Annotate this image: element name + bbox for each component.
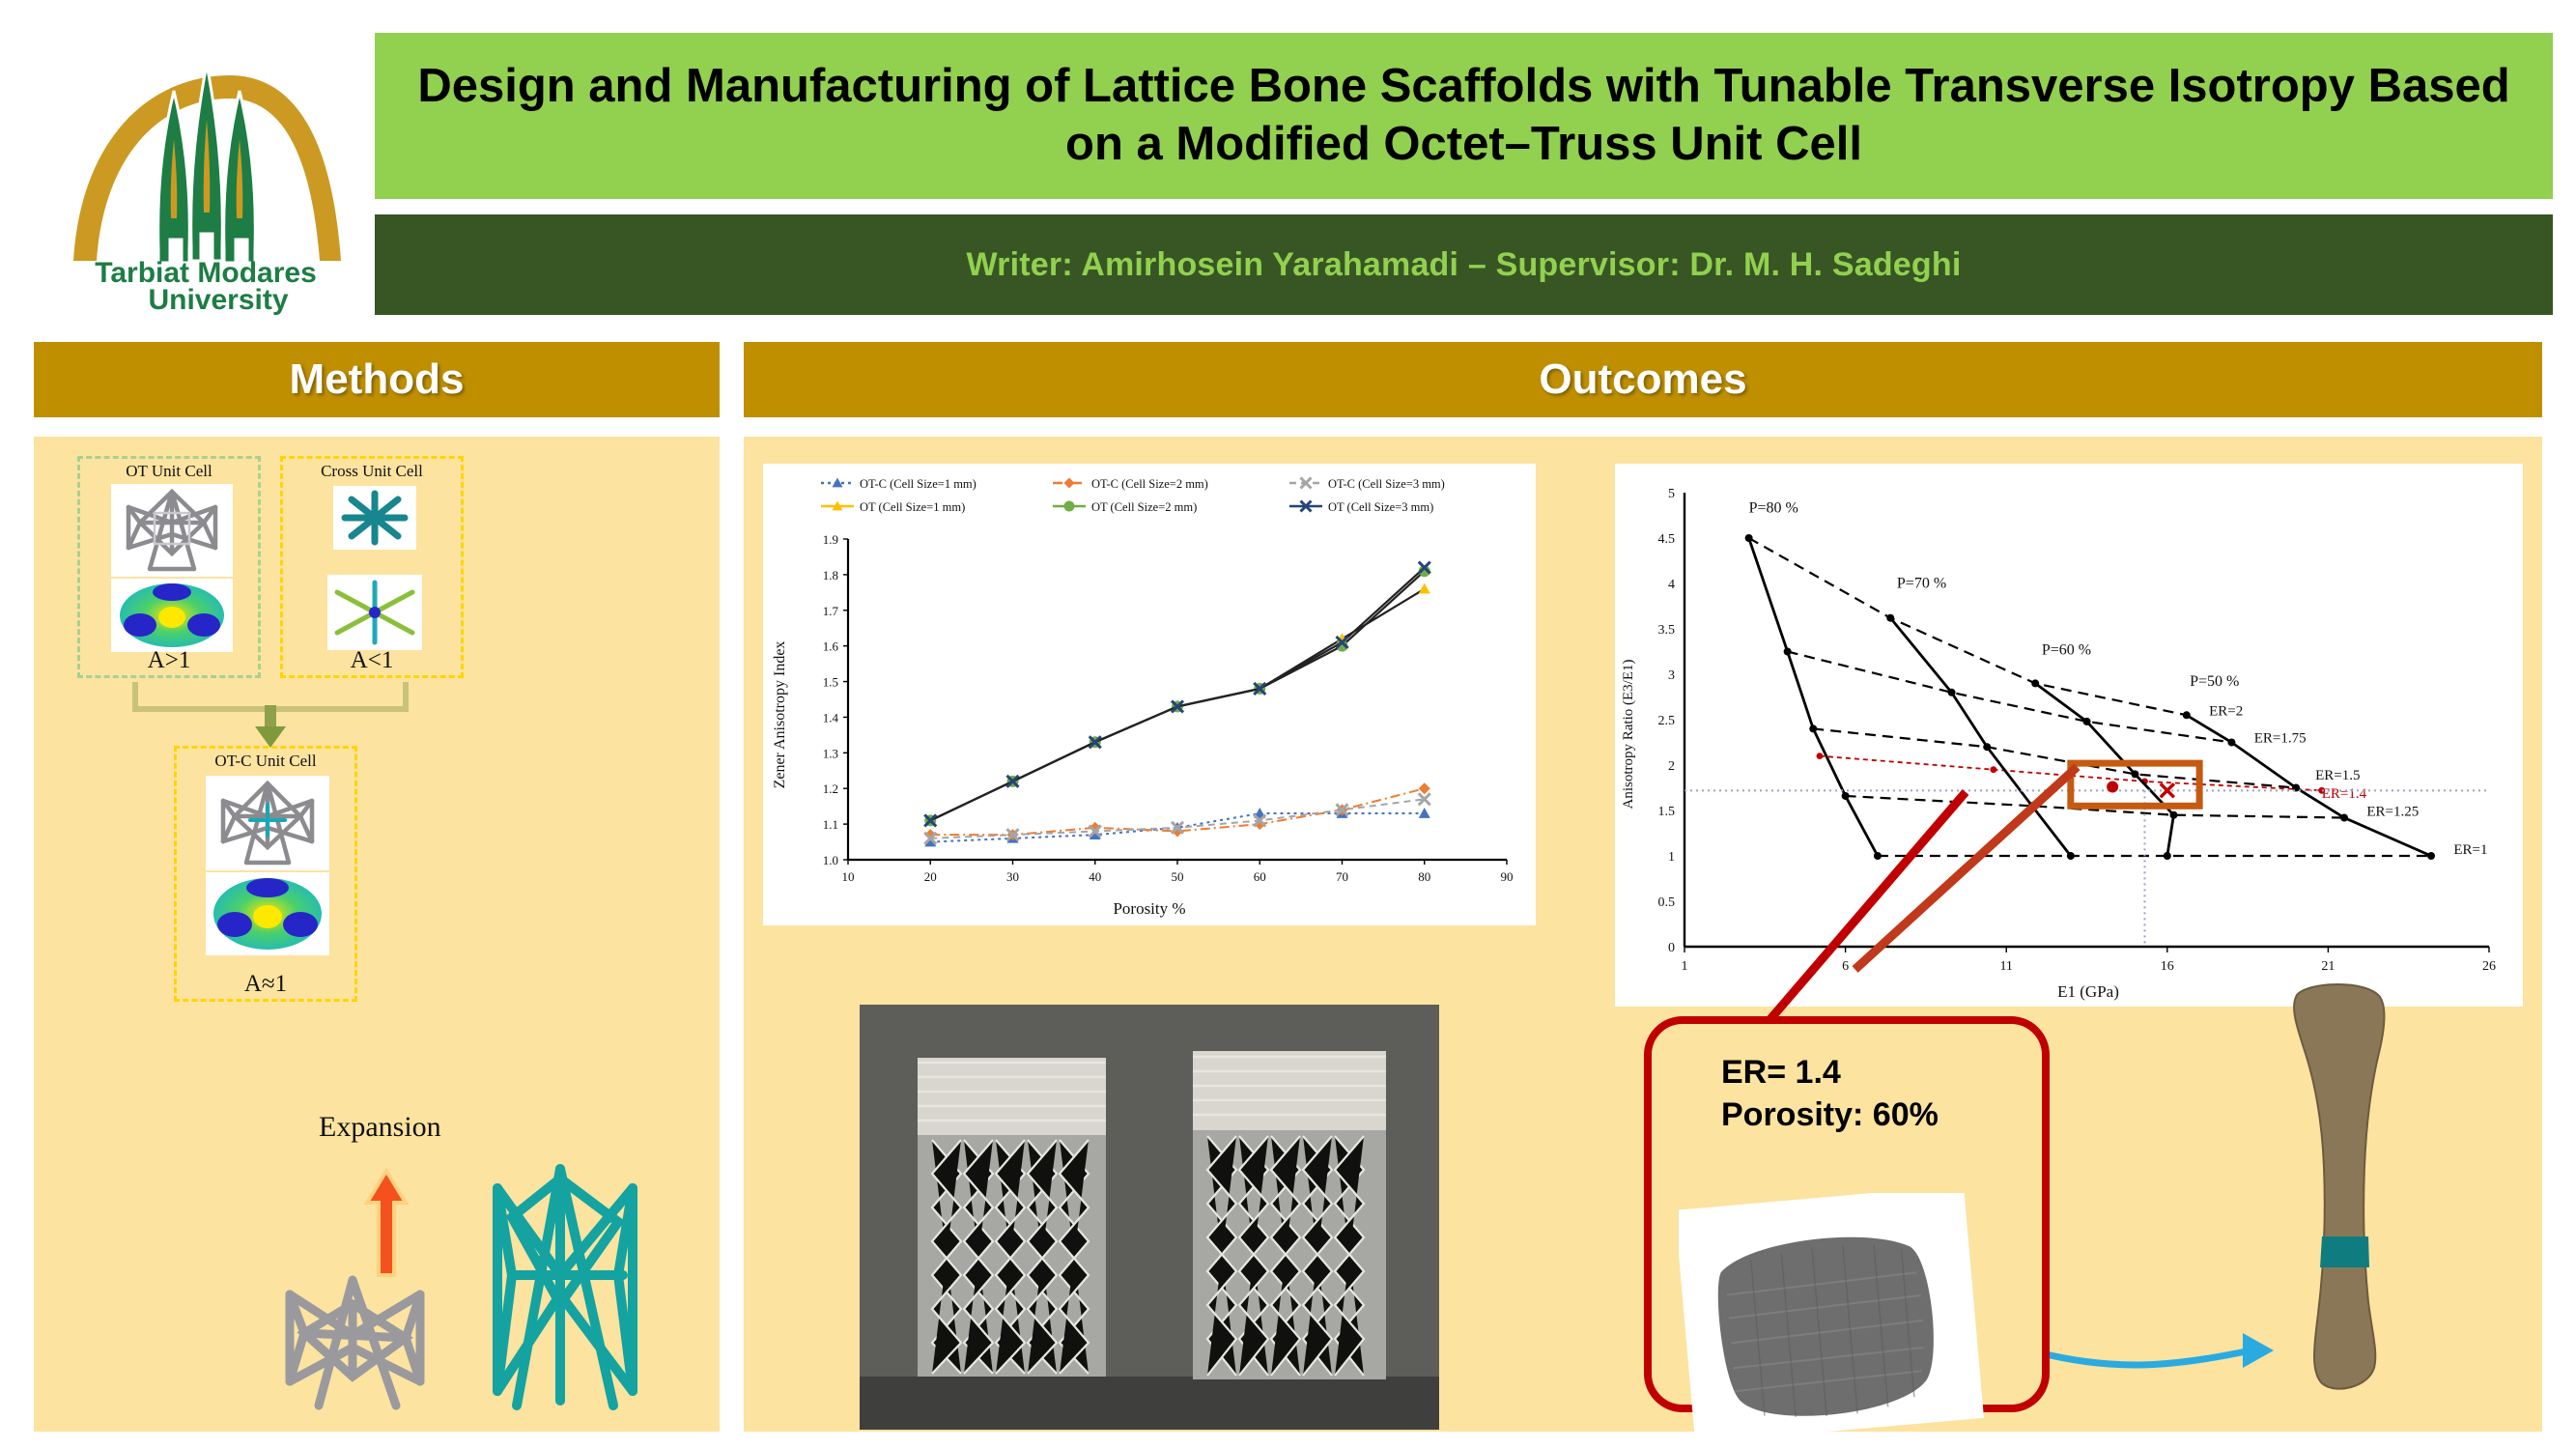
section-header-outcomes: Outcomes — [744, 342, 2542, 417]
svg-text:1.1: 1.1 — [823, 817, 838, 832]
specimen-right — [1193, 1051, 1386, 1379]
teal-expanded-cell — [497, 1169, 633, 1406]
tibia-bone-illustration — [2250, 974, 2444, 1428]
svg-text:1.7: 1.7 — [823, 604, 839, 618]
er-label-2: ER=1.5 — [2315, 768, 2360, 783]
cross-unit-cell-group: Cross Unit Cell — [280, 456, 464, 678]
chart2-axes: 00.511.522.533.544.551611162126 — [1658, 487, 2497, 974]
svg-text:1.5: 1.5 — [823, 675, 838, 690]
scaffold-cylinder-image — [1679, 1193, 1988, 1435]
chart1-legend-label-2: OT-C (Cell Size=3 mm) — [1328, 477, 1445, 491]
specimen-left — [918, 1058, 1106, 1377]
chart2-svg: 00.511.522.533.544.551611162126 P=80 %P=… — [1615, 464, 2523, 1007]
svg-text:3.5: 3.5 — [1658, 623, 1676, 638]
svg-text:70: 70 — [1336, 869, 1348, 884]
svg-text:1.3: 1.3 — [823, 746, 838, 760]
otc-anisotropy-surface — [206, 872, 329, 955]
chart1-legend-label-3: OT (Cell Size=1 mm) — [860, 500, 965, 514]
page-title: Design and Manufacturing of Lattice Bone… — [413, 58, 2514, 174]
otc-unit-cell-group: OT-C Unit Cell — [174, 746, 357, 1002]
svg-text:1.5: 1.5 — [1658, 805, 1676, 819]
ot-unit-cell-render — [111, 484, 233, 577]
svg-text:1.4: 1.4 — [823, 710, 839, 724]
author-line: Writer: Amirhosein Yarahamadi – Supervis… — [967, 246, 1962, 284]
callout-porosity: Porosity: 60% — [1721, 1094, 1939, 1138]
otc-lattice-icon — [206, 776, 329, 870]
chart2-annotations: P=80 %P=70 %P=60 %P=50 %ER=2ER=1.75ER=1.… — [1684, 500, 2489, 970]
chart2-ylabel: Anisotropy Ratio (E3/E1) — [1621, 660, 1636, 810]
chart1-svg: OT-C (Cell Size=1 mm)OT-C (Cell Size=2 m… — [763, 464, 1536, 925]
otc-anisotropy-icon — [206, 872, 329, 955]
svg-text:1: 1 — [1668, 850, 1675, 865]
svg-text:80: 80 — [1418, 869, 1430, 884]
lattice-specimens-graphic — [860, 1005, 1439, 1430]
poster-root: Tarbiat Modares University Design and Ma… — [0, 0, 2576, 1449]
otc-anisotropy-value: A≈1 — [177, 971, 354, 998]
svg-text:26: 26 — [2482, 959, 2496, 974]
logo-graphic: Tarbiat Modares University — [46, 19, 365, 319]
svg-text:20: 20 — [924, 869, 937, 884]
svg-text:1.0: 1.0 — [823, 853, 838, 867]
svg-text:4.5: 4.5 — [1658, 532, 1676, 547]
merge-connector — [77, 676, 464, 753]
svg-text:30: 30 — [1006, 869, 1019, 884]
porosity-label-1: P=70 % — [1897, 576, 1946, 592]
section-title-outcomes: Outcomes — [1539, 355, 1746, 404]
er-label-5: ER=1 — [2453, 842, 2487, 858]
gray-unit-cell — [290, 1280, 420, 1406]
svg-text:21: 21 — [2321, 959, 2335, 974]
cross-unit-cell-title: Cross Unit Cell — [283, 462, 461, 481]
svg-text:1.6: 1.6 — [823, 639, 839, 654]
chart1-ylabel: Zener Anisotropy Index — [772, 641, 788, 789]
logo-line2: University — [148, 284, 288, 316]
ot-unit-cell-title: OT Unit Cell — [80, 462, 258, 481]
author-bar: Writer: Amirhosein Yarahamadi – Supervis… — [375, 214, 2553, 315]
cross-lattice-icon — [333, 486, 416, 550]
cross-anisotropy-surface — [327, 575, 422, 650]
cross-unit-cell-render — [333, 486, 416, 550]
er-label-0: ER=2 — [2209, 703, 2243, 719]
svg-text:3: 3 — [1668, 668, 1675, 683]
porosity-label-0: P=80 % — [1749, 500, 1798, 517]
chart1-legend: OT-C (Cell Size=1 mm)OT-C (Cell Size=2 m… — [821, 477, 1445, 514]
ot-anisotropy-value: A>1 — [80, 647, 258, 674]
svg-text:10: 10 — [842, 869, 855, 884]
svg-text:1.8: 1.8 — [823, 568, 838, 582]
chart-zener-anisotropy: OT-C (Cell Size=1 mm)OT-C (Cell Size=2 m… — [763, 464, 1536, 925]
svg-text:0: 0 — [1668, 941, 1675, 955]
scaffold-implant-region — [2320, 1236, 2369, 1267]
expansion-illustration — [280, 1150, 686, 1420]
anisotropy-surface-icon — [111, 579, 233, 652]
cross-anisotropy-icon — [327, 575, 422, 650]
svg-text:1.2: 1.2 — [823, 781, 838, 796]
er-label-3: ER=1.4 — [2322, 786, 2367, 802]
porosity-label-2: P=60 % — [2042, 641, 2091, 658]
chart1-legend-label-5: OT (Cell Size=3 mm) — [1328, 500, 1433, 514]
poster-title-bar: Design and Manufacturing of Lattice Bone… — [375, 33, 2553, 199]
svg-text:60: 60 — [1254, 869, 1266, 884]
chart2-series — [1745, 534, 2435, 860]
chart1-series — [924, 562, 1430, 847]
svg-text:16: 16 — [2161, 959, 2174, 974]
chart1-legend-label-0: OT-C (Cell Size=1 mm) — [860, 477, 977, 491]
svg-text:90: 90 — [1501, 869, 1514, 884]
er-label-4: ER=1.25 — [2366, 805, 2419, 820]
svg-text:2: 2 — [1668, 759, 1675, 774]
svg-text:50: 50 — [1172, 869, 1184, 884]
expansion-label: Expansion — [319, 1111, 441, 1144]
ot-unit-cell-group: OT Unit Cell — [77, 456, 261, 678]
printed-lattice-photo — [860, 1005, 1439, 1430]
chart1-xlabel: Porosity % — [1113, 899, 1185, 918]
callout-box: ER= 1.4 Porosity: 60% — [1644, 1016, 2050, 1412]
svg-text:1: 1 — [1682, 959, 1688, 974]
expansion-arrow — [367, 1171, 406, 1275]
ot-anisotropy-surface — [111, 579, 233, 652]
chart2-xlabel: E1 (GPa) — [2057, 982, 2119, 1001]
octet-truss-icon — [111, 484, 233, 577]
otc-unit-cell-title: OT-C Unit Cell — [177, 752, 354, 771]
cross-anisotropy-value: A<1 — [283, 647, 461, 674]
chart1-legend-label-4: OT (Cell Size=2 mm) — [1091, 500, 1197, 514]
svg-text:2.5: 2.5 — [1658, 714, 1676, 728]
svg-text:11: 11 — [1999, 959, 2012, 974]
svg-text:40: 40 — [1089, 869, 1101, 884]
section-title-methods: Methods — [290, 355, 465, 404]
otc-unit-cell-render — [206, 776, 329, 870]
porosity-label-3: P=50 % — [2190, 673, 2239, 690]
callout-er: ER= 1.4 — [1721, 1051, 1841, 1095]
svg-text:5: 5 — [1668, 487, 1675, 501]
chart-anisotropy-ratio: 00.511.522.533.544.551611162126 P=80 %P=… — [1615, 464, 2523, 1007]
svg-text:6: 6 — [1842, 959, 1849, 974]
svg-text:4: 4 — [1668, 578, 1675, 592]
chart2-highlight-box — [2071, 763, 2199, 806]
svg-text:1.9: 1.9 — [823, 532, 838, 547]
university-logo: Tarbiat Modares University — [46, 19, 365, 319]
er-label-1: ER=1.75 — [2254, 731, 2307, 747]
svg-text:0.5: 0.5 — [1658, 895, 1676, 910]
chart1-legend-label-1: OT-C (Cell Size=2 mm) — [1091, 477, 1208, 491]
section-header-methods: Methods — [34, 342, 720, 417]
